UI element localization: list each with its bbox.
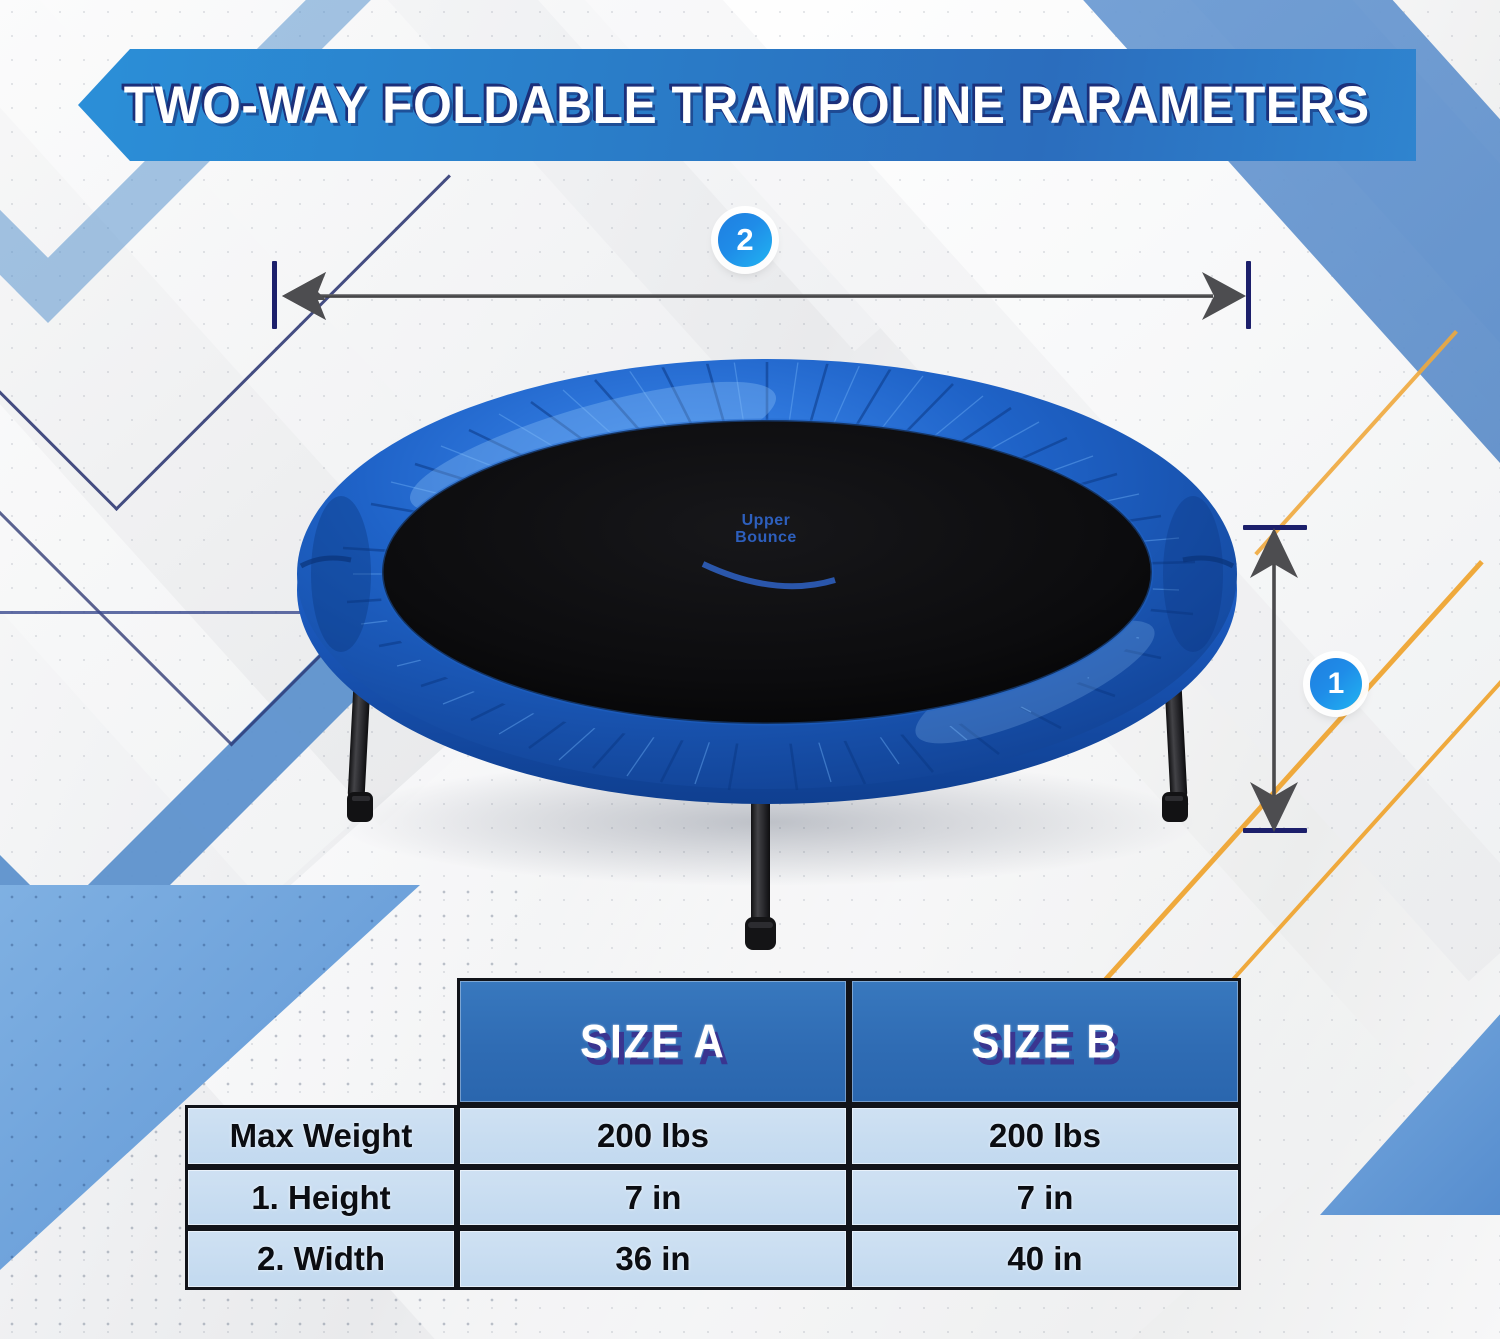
table-cell-height-size-b: 7 in (849, 1167, 1241, 1228)
table-cell-height-size-a: 7 in (457, 1167, 849, 1228)
callout-badge-width-label: 2 (736, 222, 753, 258)
table-cell-text: 200 lbs (597, 1117, 709, 1155)
table-cell-width-size-b: 40 in (849, 1228, 1241, 1290)
brand-logo-line1: Upper (696, 512, 836, 529)
table-cell-width-size-a: 36 in (457, 1228, 849, 1290)
parameters-table: SIZE A SIZE B Max Weight 200 lbs 200 lbs… (185, 978, 1241, 1290)
title-banner: TWO-WAY FOLDABLE TRAMPOLINE PARAMETERS (78, 49, 1416, 161)
table-cell-max-weight-size-b: 200 lbs (849, 1105, 1241, 1167)
table-row-label-max-weight: Max Weight (185, 1105, 457, 1167)
table-cell-text: 36 in (615, 1240, 690, 1278)
table-cell-text: 7 in (625, 1179, 682, 1217)
table-row-label-width: 2. Width (185, 1228, 457, 1290)
table-cell-text: 200 lbs (989, 1117, 1101, 1155)
callout-badge-width: 2 (718, 213, 772, 267)
table-header-size-b-label: SIZE B (971, 1015, 1118, 1069)
table-row-label-text: 2. Width (257, 1240, 385, 1278)
table-header-size-a: SIZE A (457, 978, 849, 1105)
callout-badge-height: 1 (1310, 658, 1362, 710)
bg-navy-horizontal-rule (0, 611, 330, 614)
table-row-label-text: Max Weight (230, 1117, 413, 1155)
page-title: TWO-WAY FOLDABLE TRAMPOLINE PARAMETERS (124, 79, 1370, 132)
jump-mat (382, 420, 1152, 724)
table-header-size-b: SIZE B (849, 978, 1241, 1105)
table-cell-max-weight-size-a: 200 lbs (457, 1105, 849, 1167)
table-row-label-height: 1. Height (185, 1167, 457, 1228)
brand-logo-line2: Bounce (696, 529, 836, 546)
table-corner-cell (185, 978, 457, 1105)
width-arrowheads (274, 266, 1254, 326)
table-cell-text: 7 in (1017, 1179, 1074, 1217)
table-cell-text: 40 in (1007, 1240, 1082, 1278)
callout-badge-height-label: 1 (1328, 667, 1345, 701)
brand-logo: Upper Bounce (696, 512, 836, 558)
table-header-size-a-label: SIZE A (580, 1015, 726, 1069)
infographic-canvas: TWO-WAY FOLDABLE TRAMPOLINE PARAMETERS 2… (0, 0, 1500, 1339)
height-dimension-arrow (1248, 524, 1302, 836)
table-row-label-text: 1. Height (251, 1179, 390, 1217)
trampoline-product-image (293, 352, 1241, 952)
